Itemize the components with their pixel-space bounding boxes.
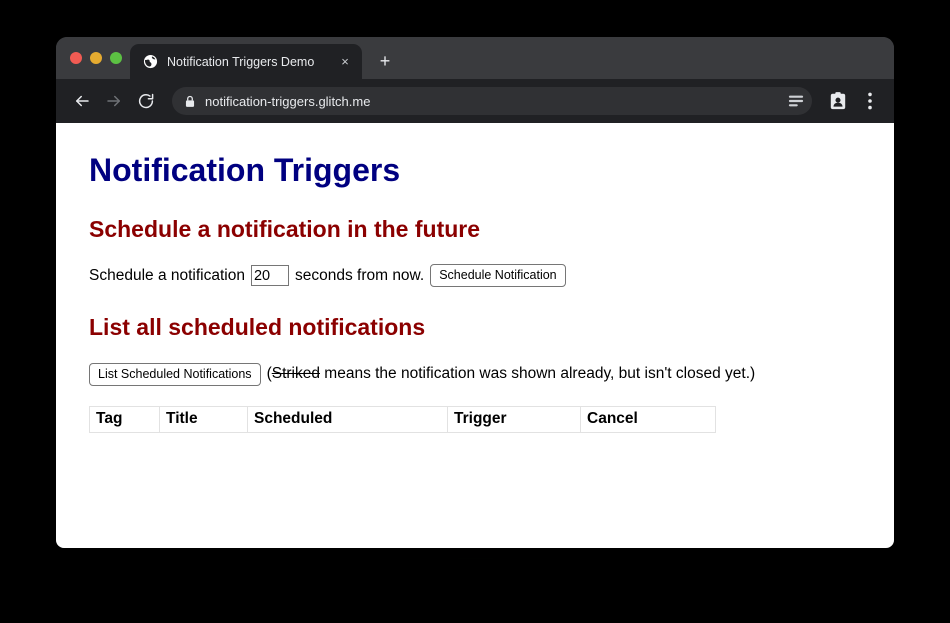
forward-icon[interactable]	[100, 87, 128, 115]
schedule-label-after: seconds from now.	[295, 267, 424, 285]
list-scheduled-notifications-button[interactable]: List Scheduled Notifications	[89, 363, 261, 386]
list-controls-row: List Scheduled Notifications (Striked me…	[89, 363, 894, 386]
table-header-cancel: Cancel	[581, 406, 716, 432]
schedule-label-before: Schedule a notification	[89, 267, 245, 285]
desktop-background: Notification Triggers Demo × +	[0, 0, 950, 623]
table-header-trigger: Trigger	[448, 406, 581, 432]
list-section-heading: List all scheduled notifications	[89, 314, 894, 340]
address-bar[interactable]: notification-triggers.glitch.me	[172, 87, 812, 115]
globe-icon	[142, 54, 158, 70]
scheduled-notifications-table: Tag Title Scheduled Trigger Cancel	[89, 406, 716, 433]
profile-card-icon[interactable]	[824, 87, 852, 115]
lock-icon	[184, 95, 196, 108]
page-viewport: Notification Triggers Schedule a notific…	[56, 123, 894, 548]
strike-note: (Striked means the notification was show…	[267, 365, 756, 383]
schedule-notification-button[interactable]: Schedule Notification	[430, 264, 565, 287]
schedule-form-row: Schedule a notification seconds from now…	[89, 264, 894, 287]
browser-toolbar: notification-triggers.glitch.me	[56, 79, 894, 123]
schedule-section-heading: Schedule a notification in the future	[89, 216, 894, 242]
browser-window: Notification Triggers Demo × +	[56, 37, 894, 548]
table-header-row: Tag Title Scheduled Trigger Cancel	[90, 406, 716, 432]
omnibox-menu-icon[interactable]	[788, 94, 804, 108]
back-icon[interactable]	[68, 87, 96, 115]
window-traffic-lights	[66, 37, 130, 79]
page-title: Notification Triggers	[89, 152, 894, 189]
table-header-title: Title	[160, 406, 248, 432]
page-content: Notification Triggers Schedule a notific…	[56, 123, 894, 433]
window-close-button[interactable]	[70, 52, 82, 64]
strike-note-rest: means the notification was shown already…	[320, 365, 755, 382]
table-header-tag: Tag	[90, 406, 160, 432]
browser-menu-icon[interactable]	[856, 87, 884, 115]
browser-tab-title: Notification Triggers Demo	[167, 55, 327, 69]
window-maximize-button[interactable]	[110, 52, 122, 64]
strike-note-word: Striked	[272, 365, 320, 382]
close-icon[interactable]: ×	[336, 53, 354, 71]
window-minimize-button[interactable]	[90, 52, 102, 64]
address-bar-url: notification-triggers.glitch.me	[205, 94, 779, 109]
reload-icon[interactable]	[132, 87, 160, 115]
browser-tab-active[interactable]: Notification Triggers Demo ×	[130, 44, 362, 79]
new-tab-button[interactable]: +	[370, 46, 400, 76]
tab-strip: Notification Triggers Demo × +	[56, 37, 894, 79]
table-header-scheduled: Scheduled	[248, 406, 448, 432]
seconds-input[interactable]	[251, 265, 289, 286]
